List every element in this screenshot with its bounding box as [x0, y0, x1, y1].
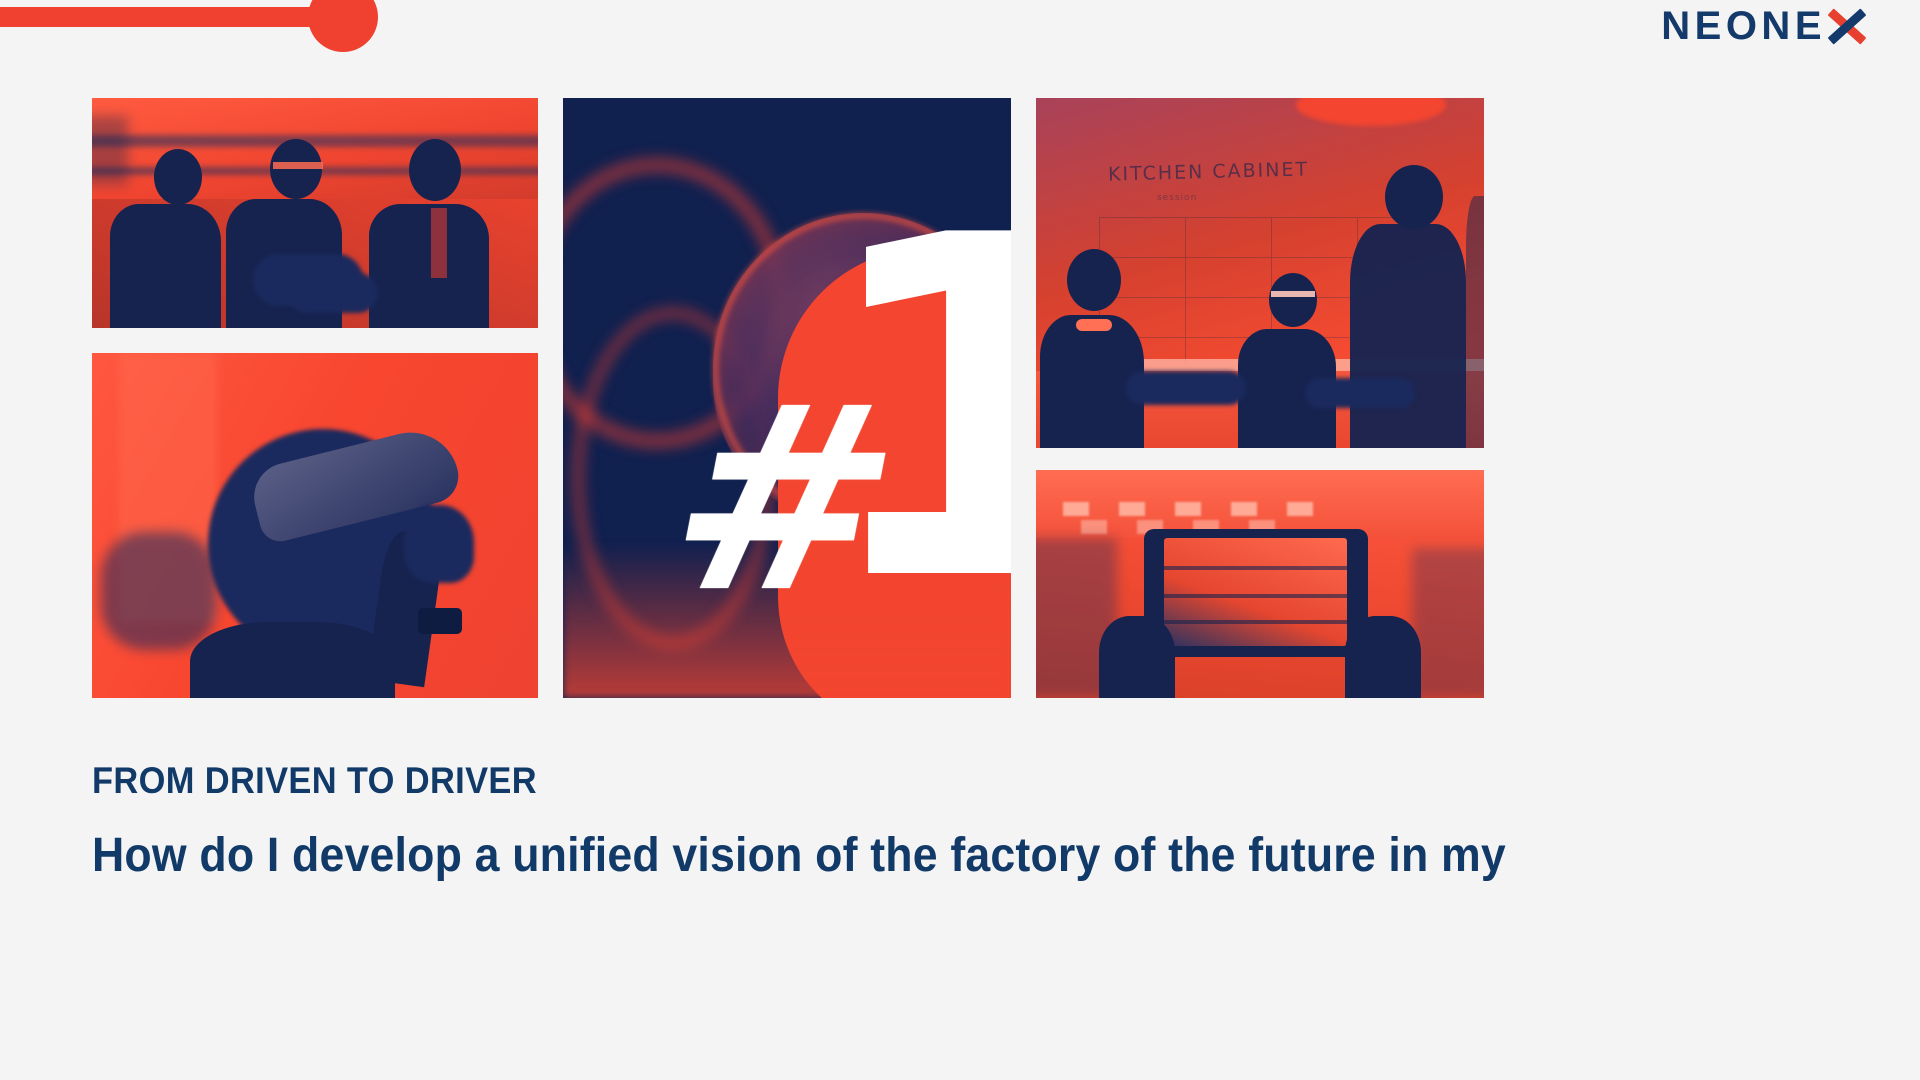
headline-block: FROM DRIVEN TO DRIVER How do I develop a…: [92, 760, 1592, 883]
photo-tablet-factory[interactable]: [1036, 470, 1484, 698]
red-accent-bar: [0, 7, 320, 27]
logo-x-icon: [1829, 7, 1865, 45]
photo-workshop-whiteboard[interactable]: KITCHEN CABINET session: [1036, 98, 1484, 448]
gallery-column-center: # 1: [563, 98, 1011, 698]
photo-man-vr-headset[interactable]: [92, 353, 538, 698]
whiteboard-subtitle: session: [1157, 193, 1197, 203]
number-one-overlay: 1: [813, 218, 1011, 603]
photo-lightbulbs-feature[interactable]: # 1: [563, 98, 1011, 698]
image-gallery-grid: # 1 KITCHEN CABINET session: [92, 98, 1484, 698]
headline-kicker: FROM DRIVEN TO DRIVER: [92, 760, 1487, 802]
grid-gap: [92, 328, 538, 353]
neonex-logo[interactable]: NEONE: [1661, 6, 1865, 46]
gallery-column-right: KITCHEN CABINET session: [1036, 98, 1484, 698]
red-accent-dot: [308, 0, 378, 52]
photo-handshake-executives[interactable]: [92, 98, 538, 328]
grid-gap: [1036, 448, 1484, 470]
headline-question: How do I develop a unified vision of the…: [92, 828, 1487, 883]
gallery-column-left: [92, 98, 538, 698]
logo-wordmark: NEONE: [1661, 6, 1826, 46]
